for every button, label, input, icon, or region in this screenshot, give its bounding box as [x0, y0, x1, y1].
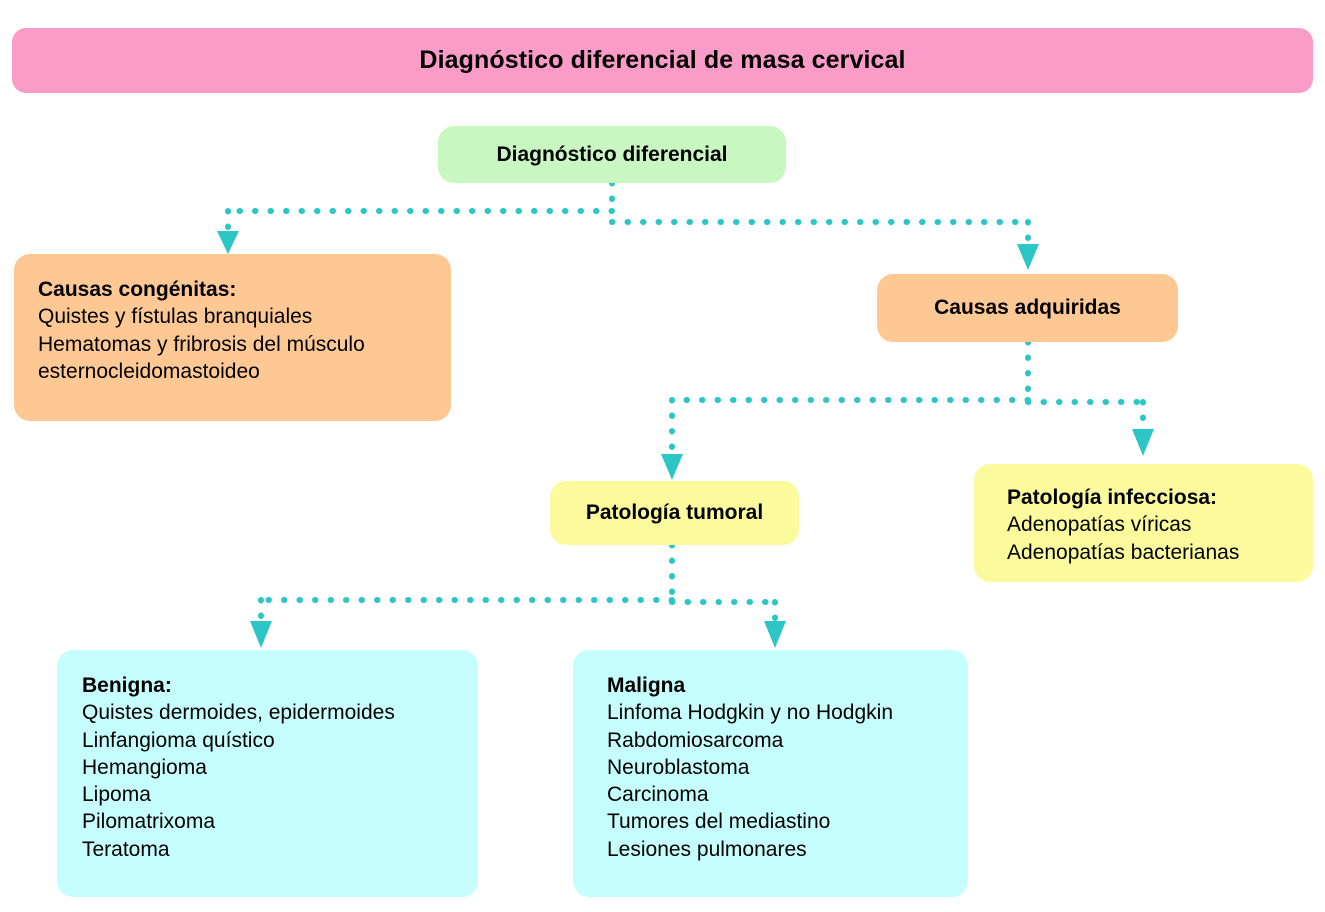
node-acquired-heading: Causas adquiridas — [934, 294, 1121, 321]
node-malignant-line: Linfoma Hodgkin y no Hodgkin — [607, 699, 968, 726]
node-tumoral-pathology: Patología tumoral — [550, 481, 799, 545]
arrowhead-tumoral — [661, 454, 683, 480]
node-tumoral-heading: Patología tumoral — [586, 499, 763, 526]
node-benign-line: Hemangioma — [82, 754, 478, 781]
node-congenital-heading: Causas congénitas: — [38, 276, 451, 303]
node-infectious-line: Adenopatías víricas — [1007, 511, 1313, 538]
node-benign-line: Linfangioma quístico — [82, 727, 478, 754]
node-benign-line: Teratoma — [82, 836, 478, 863]
arrowhead-malignant — [764, 621, 786, 648]
node-congenital-line: esternocleidomastoideo — [38, 358, 451, 385]
node-benign-line: Lipoma — [82, 781, 478, 808]
node-malignant-line: Neuroblastoma — [607, 754, 968, 781]
node-malignant-tumors: Maligna Linfoma Hodgkin y no Hodgkin Rab… — [573, 650, 968, 897]
diagram-title: Diagnóstico diferencial de masa cervical — [419, 44, 905, 77]
node-benign-tumors: Benigna: Quistes dermoides, epidermoides… — [57, 650, 478, 897]
node-malignant-line: Carcinoma — [607, 781, 968, 808]
node-infectious-pathology: Patología infecciosa: Adenopatías vírica… — [974, 464, 1313, 582]
node-congenital-line: Quistes y fístulas branquiales — [38, 303, 451, 330]
node-acquired-causes: Causas adquiridas — [877, 274, 1178, 342]
node-benign-line: Quistes dermoides, epidermoides — [82, 699, 478, 726]
node-benign-line: Pilomatrixoma — [82, 808, 478, 835]
node-differential-diagnosis: Diagnóstico diferencial — [438, 126, 786, 183]
node-malignant-line: Lesiones pulmonares — [607, 836, 968, 863]
diagram-canvas: Diagnóstico diferencial de masa cervical… — [0, 0, 1325, 912]
node-congenital-causes: Causas congénitas: Quistes y fístulas br… — [14, 254, 451, 421]
arrowhead-infectious — [1132, 429, 1154, 456]
node-benign-heading: Benigna: — [82, 672, 478, 699]
node-malignant-heading: Maligna — [607, 672, 968, 699]
node-malignant-line: Tumores del mediastino — [607, 808, 968, 835]
node-infectious-heading: Patología infecciosa: — [1007, 484, 1313, 511]
arrowhead-acquired — [1017, 244, 1039, 270]
arrowhead-congenital — [217, 231, 239, 254]
node-malignant-line: Rabdomiosarcoma — [607, 727, 968, 754]
node-infectious-line: Adenopatías bacterianas — [1007, 539, 1313, 566]
node-root-heading: Diagnóstico diferencial — [496, 141, 727, 168]
arrowhead-benign — [250, 621, 272, 648]
node-congenital-line: Hematomas y fribrosis del músculo — [38, 331, 451, 358]
diagram-title-banner: Diagnóstico diferencial de masa cervical — [12, 28, 1313, 93]
